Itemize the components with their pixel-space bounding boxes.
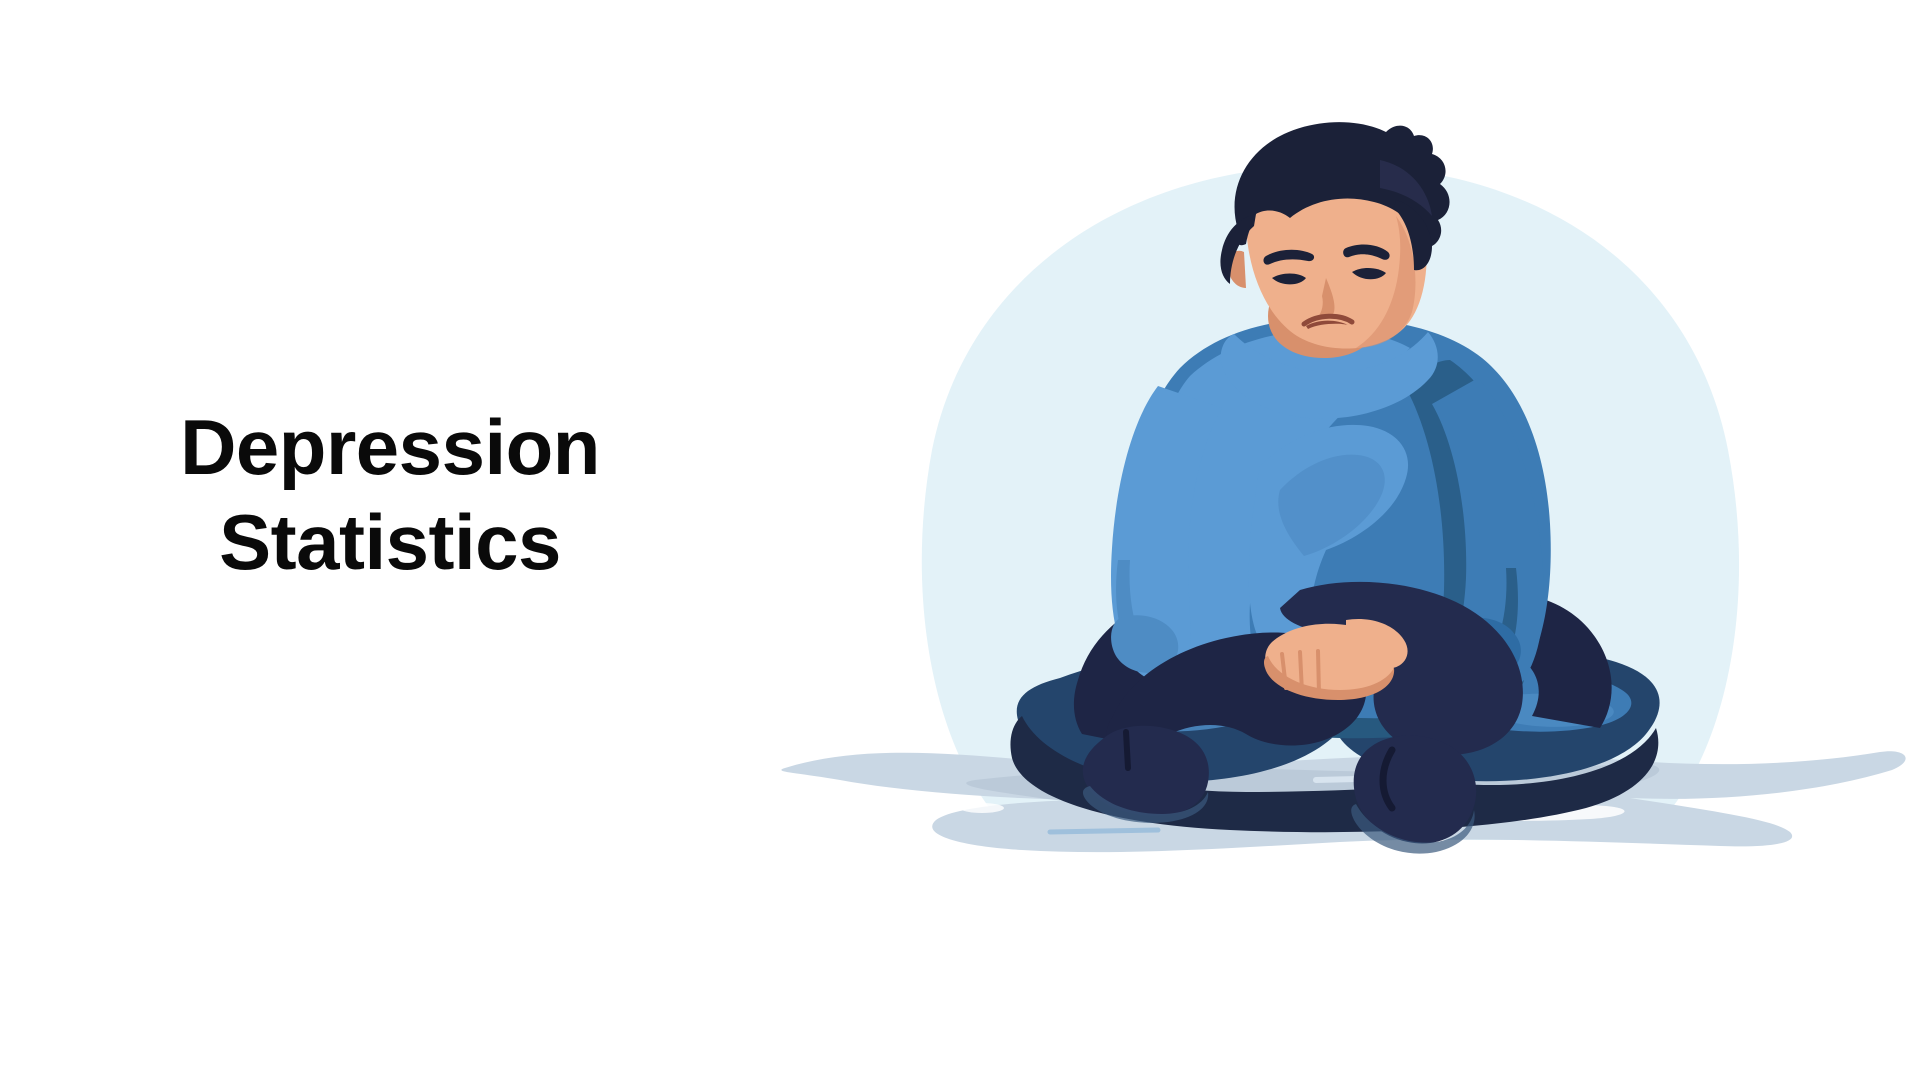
sad-man-illustration <box>760 120 1920 940</box>
page-title-line-2: Statistics <box>100 495 680 590</box>
poster-canvas: Depression Statistics <box>0 0 1920 1080</box>
page-title: Depression Statistics <box>100 400 680 590</box>
page-title-line-1: Depression <box>100 400 680 495</box>
